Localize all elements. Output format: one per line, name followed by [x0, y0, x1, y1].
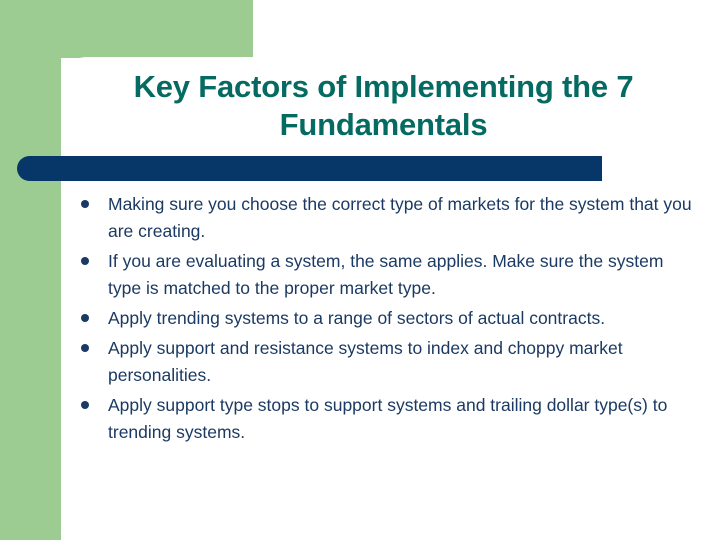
bullet-item: Apply support and resistance systems to … — [78, 335, 698, 389]
slide-canvas: Key Factors of Implementing the 7 Fundam… — [0, 0, 720, 540]
bullet-item-label: Apply trending systems to a range of sec… — [108, 305, 698, 332]
bullet-item: Making sure you choose the correct type … — [78, 191, 698, 245]
bullet-item-label: Apply support and resistance systems to … — [108, 335, 698, 389]
disc-bullet-icon — [81, 401, 89, 409]
disc-bullet-icon — [81, 200, 89, 208]
bullet-list: Making sure you choose the correct type … — [78, 191, 698, 449]
bullet-item-label: Making sure you choose the correct type … — [108, 191, 698, 245]
bullet-item: Apply trending systems to a range of sec… — [78, 305, 698, 332]
disc-bullet-icon — [81, 314, 89, 322]
bullet-item-label: If you are evaluating a system, the same… — [108, 248, 698, 302]
slide-title: Key Factors of Implementing the 7 Fundam… — [61, 68, 706, 144]
disc-bullet-icon — [81, 344, 89, 352]
bullet-item: If you are evaluating a system, the same… — [78, 248, 698, 302]
disc-bullet-icon — [81, 257, 89, 265]
green-left-strip-decoration — [0, 0, 61, 540]
bullet-item-label: Apply support type stops to support syst… — [108, 392, 698, 446]
navy-divider-bar — [17, 156, 602, 181]
bullet-item: Apply support type stops to support syst… — [78, 392, 698, 446]
